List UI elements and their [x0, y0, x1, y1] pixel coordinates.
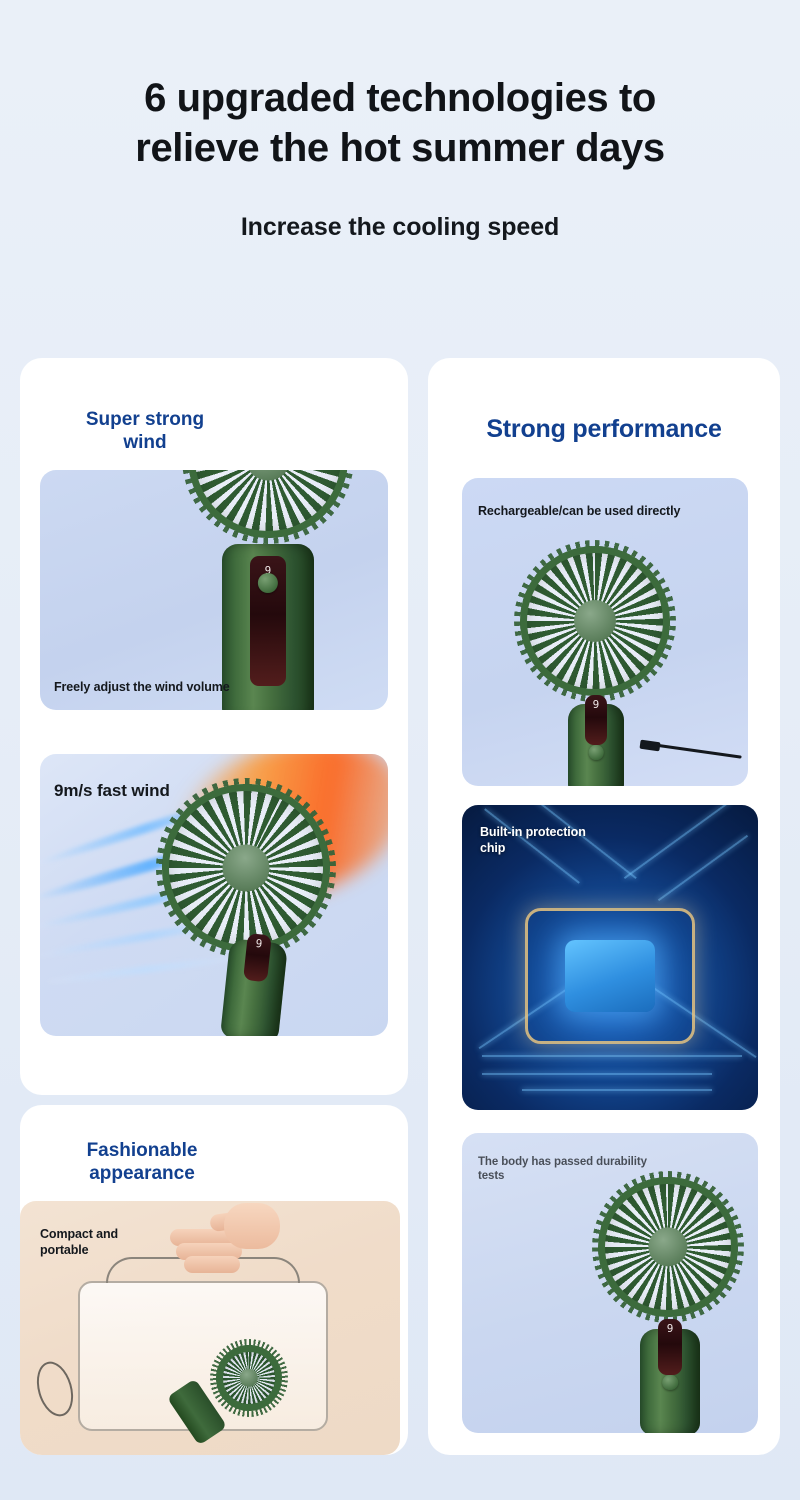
- panel-handheld-fan: 9 Freely adjust the wind volume: [40, 470, 388, 710]
- card-title-fashionable-appearance: Fashionable appearance: [52, 1139, 232, 1185]
- fan-body: 9: [222, 510, 314, 710]
- fan-body: 9: [568, 686, 624, 786]
- fan-body: 9: [220, 919, 290, 1036]
- fan-display-screen: 9: [585, 695, 607, 746]
- card-fashionable-appearance: Fashionable appearance: [20, 1105, 408, 1455]
- fan-display-screen: 9: [658, 1319, 682, 1374]
- pouch-strap: [31, 1357, 79, 1420]
- panel-compact-portable: Compact and portable: [20, 1201, 400, 1455]
- hand-palm: [224, 1203, 280, 1249]
- fan-body: 9: [640, 1309, 700, 1433]
- caption-built-in-protection-chip: Built-in protection chip: [480, 825, 630, 856]
- feature-card-board: Super strong wind 9 Freely adjust the wi…: [0, 358, 800, 1458]
- fan-power-button[interactable]: [589, 745, 604, 760]
- caption-compact-and-portable: Compact and portable: [40, 1227, 160, 1258]
- caption-rechargeable-used-directly: Rechargeable/can be used directly: [478, 504, 680, 520]
- caption-line-2: portable: [40, 1243, 89, 1257]
- fan-head-icon: [520, 546, 670, 696]
- fan-display-screen: 9: [243, 933, 271, 982]
- card-title-line-1: Fashionable: [87, 1140, 198, 1161]
- caption-line-2: chip: [480, 841, 505, 855]
- caption-body-durability: The body has passed durability tests: [478, 1155, 648, 1184]
- card-title-line-2: appearance: [89, 1163, 195, 1184]
- headline-line-2: relieve the hot summer days: [36, 124, 764, 174]
- headline-line-1: 6 upgraded technologies to: [36, 74, 764, 124]
- charging-cable: [646, 742, 741, 758]
- caption-line-1: Built-in protection: [480, 825, 586, 839]
- caption-freely-adjust-wind-volume: Freely adjust the wind volume: [54, 680, 230, 696]
- fan-hub: [574, 600, 616, 642]
- mini-fan-icon: [216, 1345, 282, 1411]
- fan-head-icon: [598, 1177, 738, 1317]
- panel-fast-wind: 9 9m/s fast wind: [40, 754, 388, 1036]
- fan-display-value: 9: [585, 698, 607, 711]
- usb-connector-icon: [639, 740, 660, 752]
- fan-display-value: 9: [247, 936, 271, 951]
- page-title: 6 upgraded technologies to relieve the h…: [0, 74, 800, 173]
- fan-display-value: 9: [658, 1322, 682, 1335]
- caption-line-1: Compact and: [40, 1227, 118, 1241]
- page-header: 6 upgraded technologies to relieve the h…: [0, 0, 800, 242]
- panel-body-durability: 9 The body has passed durability tests: [462, 1133, 758, 1433]
- chip-core: [565, 940, 655, 1012]
- hand-illustration: [170, 1209, 290, 1271]
- panel-protection-chip: Built-in protection chip: [462, 805, 758, 1110]
- card-title-strong-performance: Strong performance: [428, 414, 780, 445]
- card-title-line-1: Super strong: [86, 409, 204, 430]
- card-title-super-strong-wind: Super strong wind: [50, 408, 240, 454]
- page-subtitle: Increase the cooling speed: [0, 213, 800, 242]
- fan-power-button[interactable]: [662, 1375, 678, 1391]
- caption-9ms-fast-wind: 9m/s fast wind: [54, 780, 170, 801]
- panel-rechargeable: 9 Rechargeable/can be used directly: [462, 478, 748, 786]
- card-title-line-2: wind: [123, 432, 166, 453]
- card-strong-performance: Strong performance 9 Rechargeable/can be…: [428, 358, 780, 1455]
- card-super-strong-wind: Super strong wind 9 Freely adjust the wi…: [20, 358, 408, 1095]
